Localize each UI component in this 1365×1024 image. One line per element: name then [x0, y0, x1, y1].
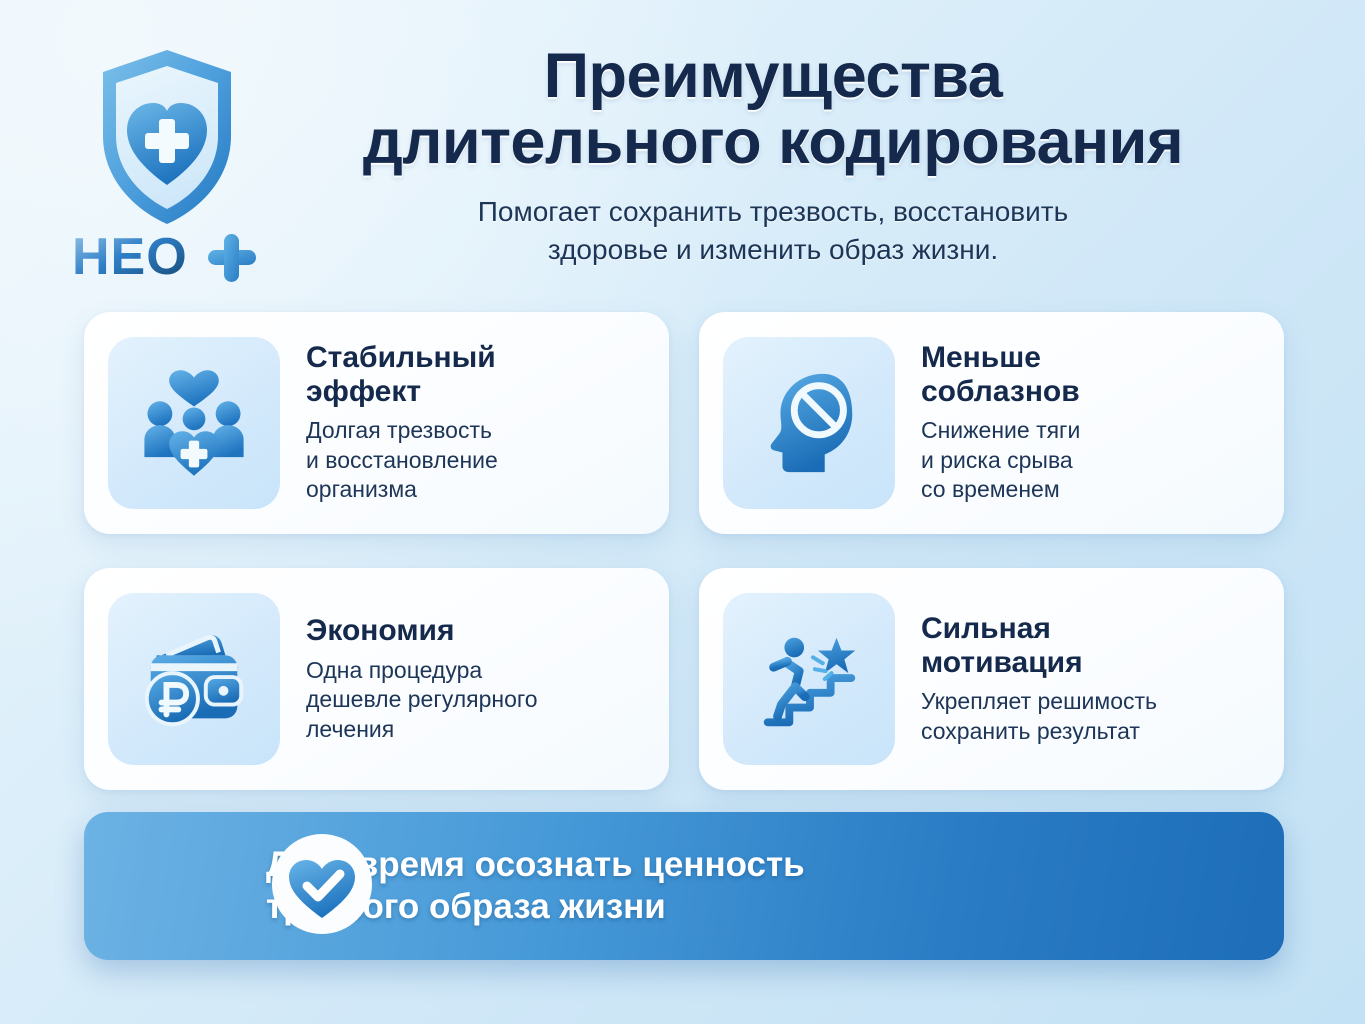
head-prohibition-icon	[723, 337, 895, 509]
subtitle-line-2: здоровье и изменить образ жизни.	[268, 231, 1278, 269]
person-stairs-star-icon	[723, 593, 895, 765]
benefit-card-stable-effect: Стабильный эффект Долгая трезвость и вос…	[84, 312, 669, 534]
page-title: Преимущества длительного кодирования	[268, 44, 1278, 175]
card-text: Стабильный эффект Долгая трезвость и вос…	[280, 341, 647, 505]
card-desc-line-1: Долгая трезвость	[306, 416, 647, 445]
card-title-line-1: Меньше	[921, 341, 1041, 374]
family-heart-plus-icon	[108, 337, 280, 509]
card-desc-line-2: дешевле регулярного	[306, 685, 647, 714]
title-line-2: длительного кодирования	[268, 110, 1278, 176]
card-description: Одна процедура дешевле регулярного лечен…	[306, 656, 647, 744]
card-description: Укрепляет решимость сохранить результат	[921, 687, 1262, 746]
card-desc-line-1: Одна процедура	[306, 656, 647, 685]
title-line-1: Преимущества	[544, 41, 1003, 111]
card-title-line-1: Сильная	[921, 612, 1051, 645]
page-subtitle: Помогает сохранить трезвость, восстанови…	[268, 193, 1278, 268]
card-desc-line-2: и риска срыва	[921, 446, 1262, 475]
subtitle-line-1: Помогает сохранить трезвость, восстанови…	[478, 196, 1068, 227]
card-title: Меньше соблазнов	[921, 341, 1262, 408]
benefit-card-less-temptation: Меньше соблазнов Снижение тяги и риска с…	[699, 312, 1284, 534]
card-desc-line-1: Укрепляет решимость	[921, 687, 1262, 716]
summary-banner: Даёт время осознать ценность трезвого об…	[84, 812, 1284, 960]
card-title: Экономия	[306, 614, 647, 648]
brand-logo: НЕО	[82, 42, 252, 291]
benefit-card-savings: Экономия Одна процедура дешевле регулярн…	[84, 568, 669, 790]
card-text: Сильная мотивация Укрепляет решимость со…	[895, 612, 1262, 746]
card-desc-line-3: лечения	[306, 715, 647, 744]
card-description: Долгая трезвость и восстановление органи…	[306, 416, 647, 504]
card-title: Сильная мотивация	[921, 612, 1262, 679]
card-title-line-2: мотивация	[921, 646, 1262, 680]
card-title: Стабильный эффект	[306, 341, 647, 408]
benefit-card-motivation: Сильная мотивация Укрепляет решимость со…	[699, 568, 1284, 790]
card-desc-line-1: Снижение тяги	[921, 416, 1262, 445]
card-title-line-1: Экономия	[306, 614, 454, 647]
card-title-line-1: Стабильный	[306, 341, 496, 374]
card-desc-line-3: организма	[306, 475, 647, 504]
shield-heart-plus-icon	[91, 42, 243, 232]
card-text: Экономия Одна процедура дешевле регулярн…	[280, 614, 647, 744]
card-title-line-2: эффект	[306, 375, 647, 409]
card-text: Меньше соблазнов Снижение тяги и риска с…	[895, 341, 1262, 505]
card-desc-line-2: сохранить результат	[921, 717, 1262, 746]
svg-text:НЕО: НЕО	[72, 228, 188, 286]
card-desc-line-2: и восстановление	[306, 446, 647, 475]
card-description: Снижение тяги и риска срыва со временем	[921, 416, 1262, 504]
card-desc-line-3: со временем	[921, 475, 1262, 504]
wallet-ruble-icon	[108, 593, 280, 765]
header: НЕО Преимущества длительного кодирования…	[0, 0, 1365, 300]
title-block: Преимущества длительного кодирования Пом…	[268, 44, 1278, 268]
benefit-card-grid: Стабильный эффект Долгая трезвость и вос…	[84, 312, 1284, 790]
infographic-page: НЕО Преимущества длительного кодирования…	[0, 0, 1365, 1024]
card-title-line-2: соблазнов	[921, 375, 1262, 409]
brand-wordmark: НЕО	[72, 228, 262, 291]
heart-check-circle-icon	[270, 832, 374, 936]
